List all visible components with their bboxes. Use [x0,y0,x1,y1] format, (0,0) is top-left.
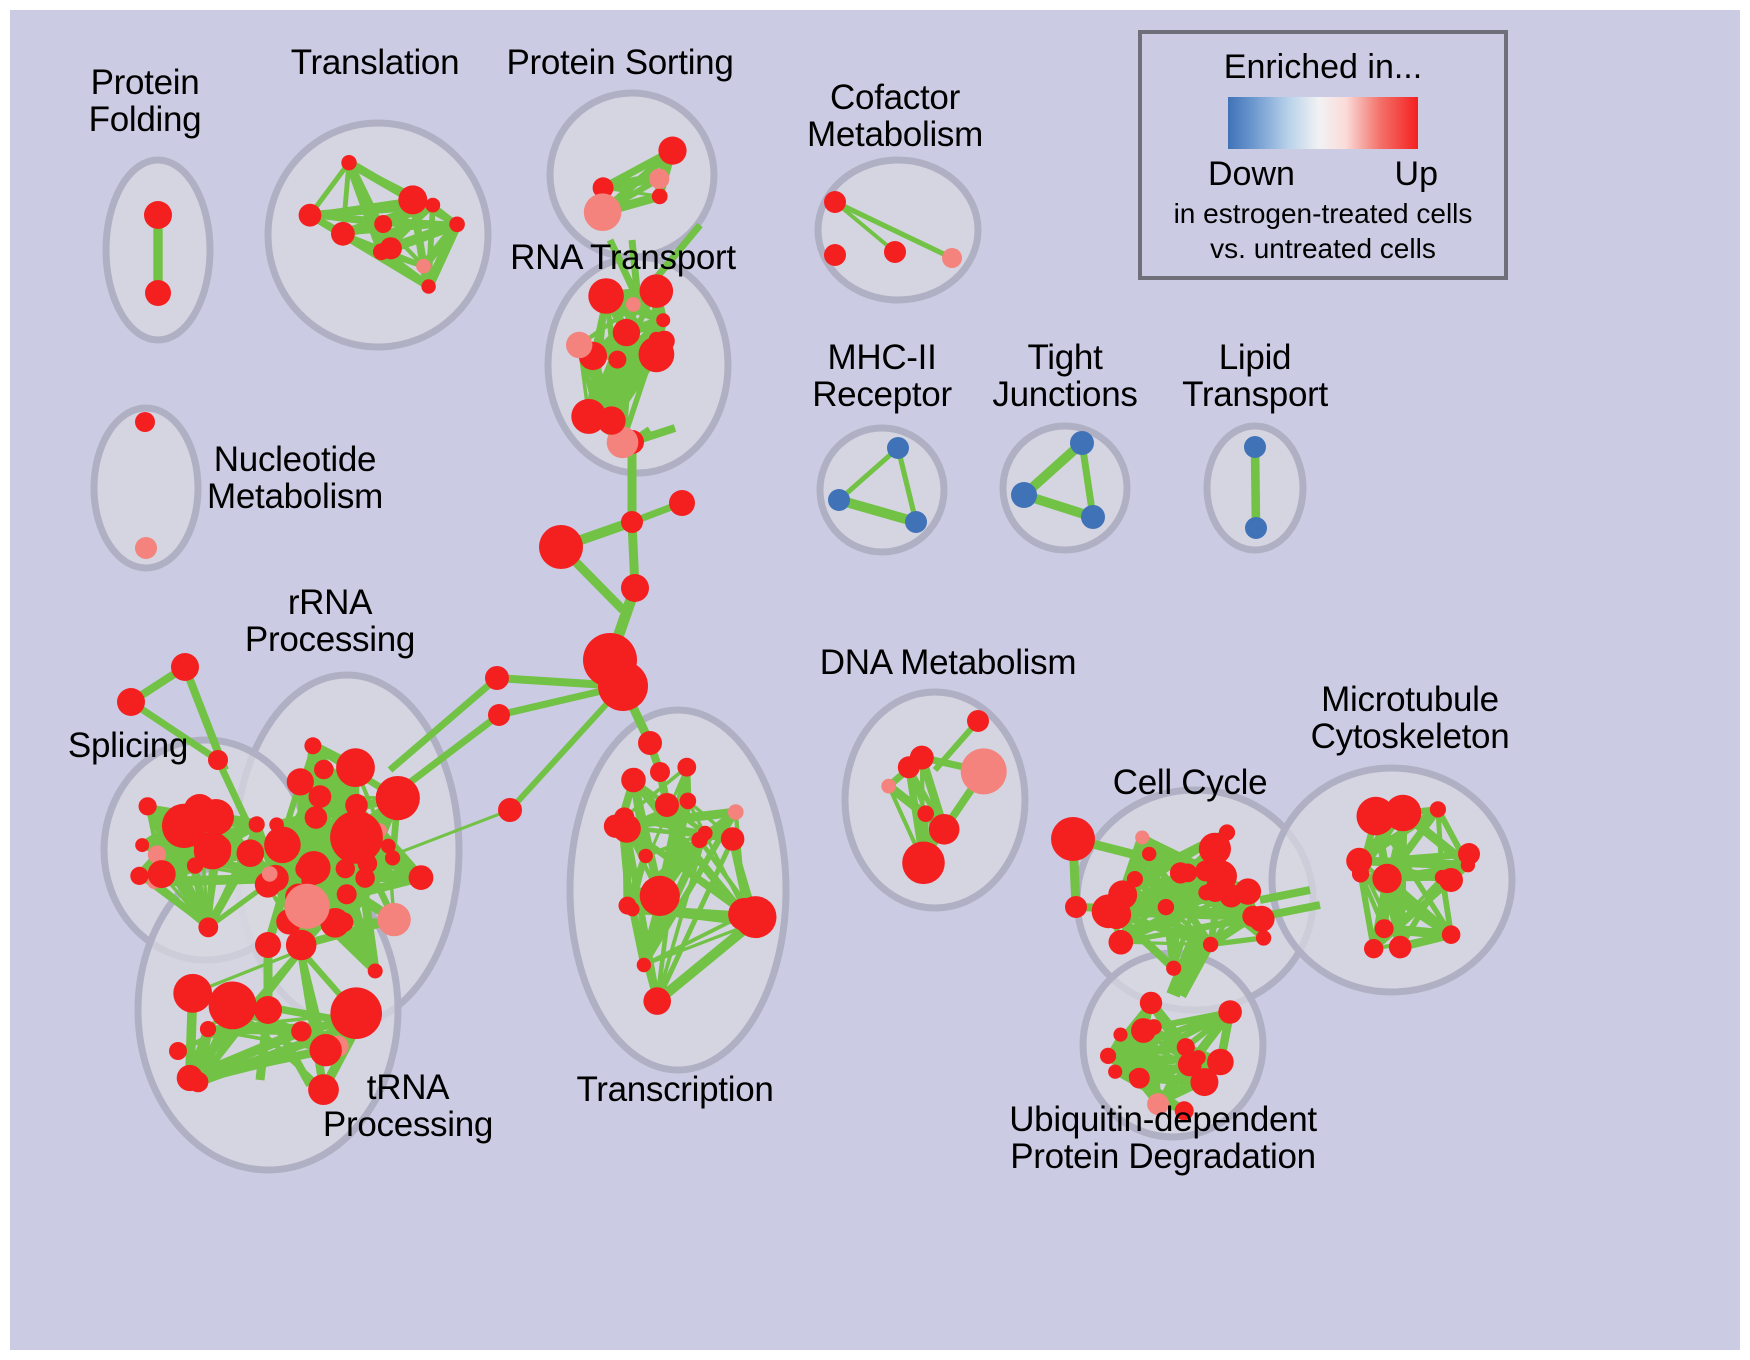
network-node [376,776,420,820]
cluster-label-rrna-processing: rRNA Processing [245,585,415,659]
network-node [173,974,212,1013]
network-node [331,222,355,246]
network-node [902,842,945,885]
network-node [1256,930,1271,945]
network-node [169,1042,187,1060]
network-node [905,511,927,533]
network-node [299,204,322,227]
network-node [269,817,284,832]
network-node [639,849,653,863]
network-node [285,884,330,929]
network-node [377,903,410,936]
network-node [264,827,301,864]
network-node [643,987,671,1015]
network-node [254,996,282,1024]
network-node [1142,847,1156,861]
cluster-label-lipid-transport: Lipid Transport [1182,340,1328,414]
cluster-label-cofactor-metabolism: Cofactor Metabolism [807,80,983,154]
network-node [188,1072,209,1093]
network-node [929,814,960,845]
network-node [640,274,674,308]
network-node [658,137,686,165]
network-node [1364,939,1383,958]
network-node [485,666,509,690]
network-node [1207,1049,1234,1076]
network-node [640,876,680,916]
network-node [588,278,624,314]
network-node [824,244,846,266]
cluster-label-protein-sorting: Protein Sorting [506,45,733,82]
network-node [1191,1050,1206,1065]
cluster-label-ubiquitin-protein-degradation: Ubiquitin-dependent Protein Degradation [1009,1102,1317,1176]
cluster-label-nucleotide-metabolism: Nucleotide Metabolism [207,442,383,516]
network-node [1435,870,1450,885]
network-node [1070,431,1094,455]
network-node [961,748,1007,794]
network-node [967,710,989,732]
edge [1255,447,1256,528]
network-node [680,793,697,810]
cluster-label-dna-metabolism: DNA Metabolism [820,645,1076,682]
network-node [262,866,278,882]
network-node [237,839,265,867]
network-node [304,737,321,754]
network-node [145,280,171,306]
legend-title: Enriched in... [1224,48,1422,87]
network-node [1113,1028,1127,1042]
network-node [333,912,353,932]
network-node [1244,436,1266,458]
network-node [1158,899,1174,915]
network-node [1430,801,1446,817]
cluster-label-tight-junctions: Tight Junctions [992,340,1137,414]
network-node [336,748,375,787]
network-node [1011,482,1037,508]
network-node [287,768,314,795]
network-node [409,865,434,890]
network-node [1131,1018,1156,1043]
network-node [887,437,909,459]
network-node [824,191,846,213]
network-node [1178,864,1197,883]
network-node [171,653,199,681]
network-node [1100,1048,1116,1064]
network-node [148,860,176,888]
network-node [305,806,328,829]
cluster-label-translation: Translation [291,45,460,82]
network-node [1352,865,1369,882]
legend-low-label: Down [1208,155,1295,194]
network-node [639,337,675,373]
cluster-label-microtubule-cytoskeleton: Microtubule Cytoskeleton [1311,682,1510,756]
network-node [638,731,662,755]
network-node [1129,1070,1143,1084]
network-node [1108,880,1137,909]
network-node [621,768,646,793]
network-node [1065,896,1087,918]
network-node [1219,824,1235,840]
network-node [597,406,625,434]
network-node [291,1021,311,1041]
cluster-label-transcription: Transcription [576,1072,773,1109]
network-node [721,827,745,851]
network-node [650,762,670,782]
network-node [1203,937,1218,952]
network-node [652,188,668,204]
network-node [1108,1065,1122,1079]
network-node [604,815,627,838]
network-node [1081,505,1105,529]
network-node [488,704,510,726]
legend-caption-line2: vs. untreated cells [1210,233,1436,264]
network-node [1375,919,1394,938]
network-node [1109,930,1134,955]
network-node [1140,992,1162,1014]
network-node [198,799,234,835]
network-node [310,1034,342,1066]
cluster-label-rna-transport: RNA Transport [510,240,736,277]
network-node [1389,936,1412,959]
network-node [330,811,383,864]
network-node [144,201,172,229]
network-node [728,804,744,820]
network-node [828,489,850,511]
cluster-label-cell-cycle: Cell Cycle [1113,765,1268,802]
network-node [1442,925,1461,944]
network-node [626,297,641,312]
network-node [208,750,228,770]
network-node [398,185,427,214]
network-node [385,850,400,865]
cluster-label-protein-folding: Protein Folding [89,65,202,139]
figure-canvas: Protein FoldingTranslationProtein Sortin… [0,0,1750,1360]
network-node [135,537,157,559]
network-node [735,896,777,938]
network-node [374,215,392,233]
network-node [619,897,637,915]
network-node [416,259,431,274]
network-node [942,248,962,268]
network-node [598,661,648,711]
network-node [613,319,640,346]
network-node [135,838,149,852]
network-node [336,859,355,878]
legend-high-label: Up [1395,155,1438,194]
network-node [881,779,896,794]
network-node [200,1021,216,1037]
network-node [498,798,522,822]
network-node [1461,858,1475,872]
network-node [368,964,383,979]
network-node [539,525,583,569]
network-node [1245,517,1267,539]
cluster-label-mhc-ii-receptor: MHC-II Receptor [812,340,952,414]
network-node [621,511,643,533]
network-node [1051,817,1095,861]
network-node [380,237,402,259]
network-node [117,688,145,716]
network-node [917,805,934,822]
network-node [198,917,218,937]
network-node [1242,906,1263,927]
network-node [655,793,679,817]
network-node [1372,864,1401,893]
network-node [566,332,592,358]
network-node [637,958,651,972]
network-node [337,884,357,904]
network-node [884,241,906,263]
network-node [691,832,707,848]
network-node [421,279,435,293]
network-node [669,490,695,516]
cluster-label-splicing: Splicing [68,728,188,765]
network-node [1357,797,1396,836]
network-node [1135,831,1149,845]
network-node [1206,861,1237,892]
network-node [358,854,378,874]
network-node [649,169,669,189]
network-node [249,816,265,832]
network-node [139,797,157,815]
network-node [192,831,211,850]
network-node [677,758,696,777]
network-node [656,313,670,327]
legend-box: Enriched in... Down Up in estrogen-treat… [1138,30,1508,280]
legend-colorbar [1228,97,1418,149]
cluster-label-trna-processing: tRNA Processing [323,1070,493,1144]
network-node [898,756,920,778]
network-node [135,412,155,432]
network-node [341,155,356,170]
network-node [255,932,281,958]
network-node [297,851,331,885]
network-node [348,1013,369,1034]
network-node [292,941,310,959]
network-node [314,760,334,780]
network-node [608,351,626,369]
network-node [209,982,257,1030]
legend-caption-line1: in estrogen-treated cells [1174,198,1473,229]
network-node [584,193,622,231]
network-node [449,217,465,233]
network-node [1218,1000,1242,1024]
network-node [130,867,148,885]
network-node [621,574,649,602]
network-plot-area: Protein FoldingTranslationProtein Sortin… [10,10,1740,1350]
network-node [1166,961,1181,976]
network-node [425,198,440,213]
